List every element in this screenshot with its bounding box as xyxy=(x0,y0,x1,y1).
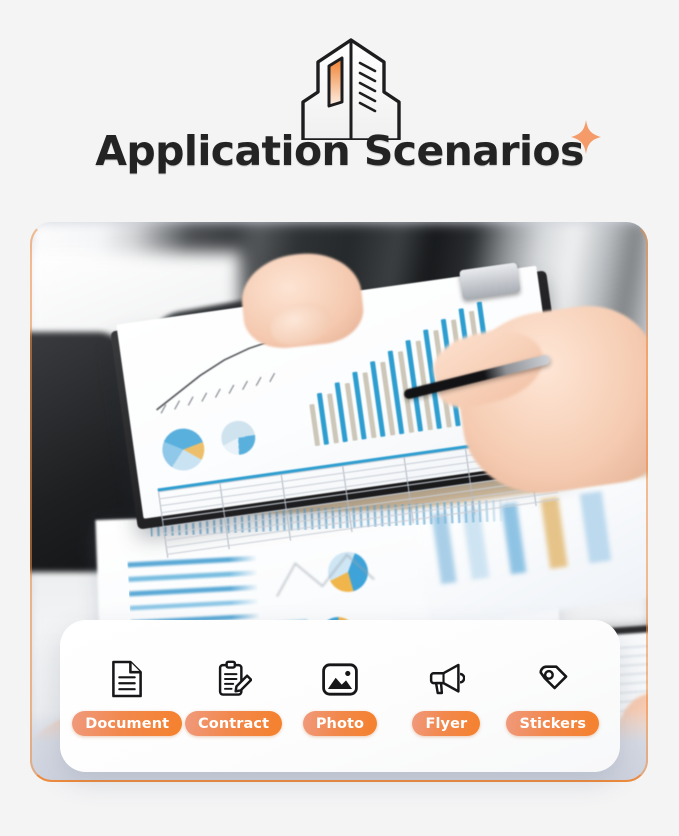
photo-paper-line-sketch xyxy=(268,539,382,615)
category-label-photo: Photo xyxy=(303,711,377,736)
category-label-stickers: Stickers xyxy=(506,711,599,736)
clipboard-pencil-icon xyxy=(216,656,252,702)
category-label-flyer: Flyer xyxy=(412,711,480,736)
page-root: Application Scenarios xyxy=(0,0,679,836)
category-card: Document Contract xyxy=(60,620,620,772)
page-title-row: Application Scenarios xyxy=(0,128,679,174)
photo-report-pie-2 xyxy=(219,419,257,457)
category-item-photo[interactable]: Photo xyxy=(288,656,392,736)
tag-icon xyxy=(535,656,571,702)
photo-report-pie-1 xyxy=(160,426,207,473)
category-label-document: Document xyxy=(72,711,182,736)
image-icon xyxy=(321,656,359,702)
document-icon xyxy=(110,656,144,702)
megaphone-icon xyxy=(427,656,465,702)
category-label-contract: Contract xyxy=(185,711,282,736)
category-item-flyer[interactable]: Flyer xyxy=(394,656,498,736)
category-item-contract[interactable]: Contract xyxy=(182,656,286,736)
header: Application Scenarios xyxy=(0,0,679,210)
building-icon xyxy=(296,36,406,140)
page-title: Application Scenarios xyxy=(95,128,584,174)
category-item-stickers[interactable]: Stickers xyxy=(501,656,605,736)
category-item-document[interactable]: Document xyxy=(75,656,179,736)
